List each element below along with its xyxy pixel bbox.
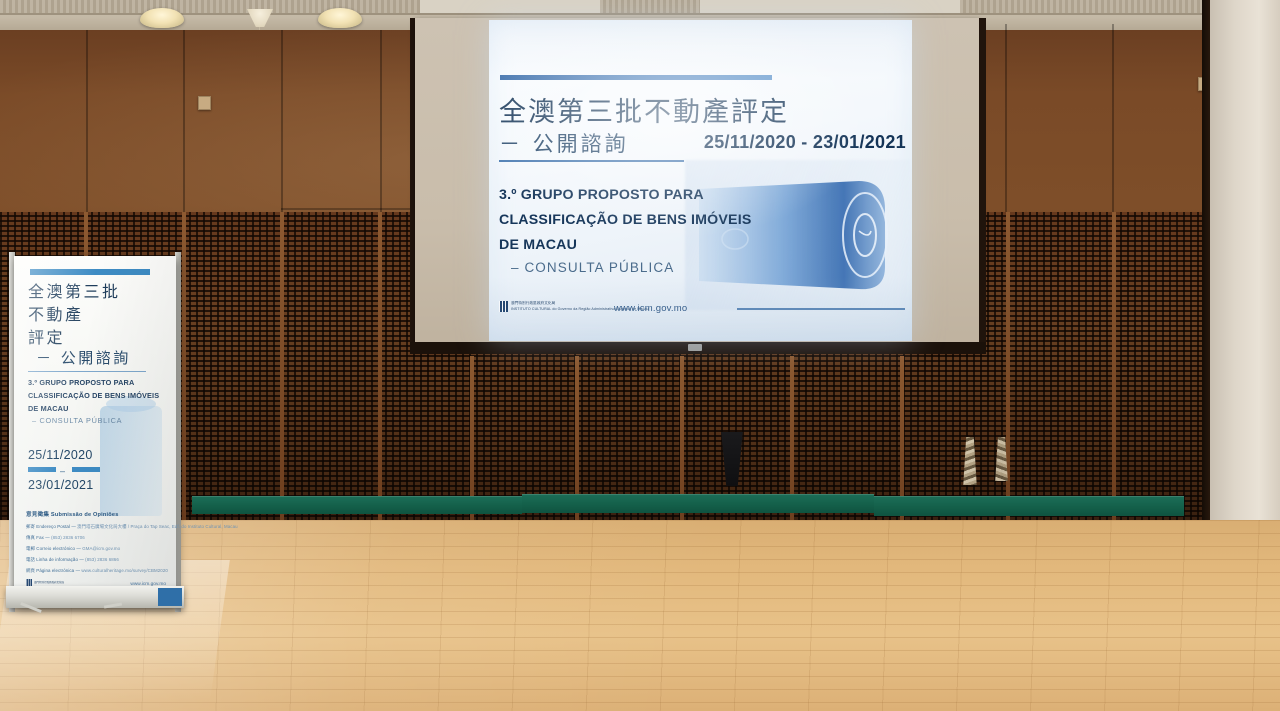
- screen-panel-edge: [979, 18, 986, 348]
- acoustic-panel-divider: [1112, 212, 1116, 542]
- banner-mid-rule: [28, 371, 146, 372]
- slide-title-chinese: 全澳第三批不動產評定: [499, 90, 789, 129]
- icm-logo-mark: [26, 579, 32, 586]
- acoustic-panel-divider: [470, 356, 474, 542]
- ceiling-panel: [700, 0, 960, 13]
- banner-title-line-2: 不動產: [28, 301, 84, 325]
- banner-title-line-1: 全澳第三批: [28, 278, 121, 302]
- banner-date-end: 23/01/2021: [28, 478, 94, 492]
- ceiling-downlight: [140, 8, 184, 28]
- contact-value: 澳門塔石廣場文化局大樓 / Praça do Tap Seac, Edf. do…: [77, 524, 238, 529]
- contact-label: 傳真 Fax: [26, 535, 44, 540]
- wall-panel-seam: [86, 30, 88, 220]
- banner-contact-row: 電郵 Correio electrónico — GMA@icm.gov.mo: [26, 546, 120, 552]
- banner-date-bar-right: [72, 467, 100, 472]
- contact-value: (853) 2836 6866: [85, 557, 119, 562]
- slide-mid-rule: [499, 160, 684, 162]
- acoustic-panel-divider: [280, 212, 284, 542]
- banner-top-rule: [30, 269, 150, 275]
- banner-contact-heading: 意見徵集 Submissão de Opiniões: [26, 510, 119, 518]
- banner-base-accent: [158, 588, 182, 606]
- ceiling-seam: [0, 13, 1280, 15]
- wall-pillar: [1210, 0, 1280, 540]
- press-conference-photo: 全澳第三批不動產評定 － 公開諮詢 25/11/2020 - 23/01/202…: [0, 0, 1280, 711]
- banner-icm-logo: 澳門特別行政區政府文化局: [26, 579, 64, 586]
- slide-pt-line-2: CLASSIFICAÇÃO DE BENS IMÓVEIS: [499, 212, 752, 228]
- banner-pt-line-1: 3.º GRUPO PROPOSTO PARA: [28, 378, 134, 387]
- wall-panel-seam: [183, 30, 185, 220]
- slide-top-rule: [500, 75, 772, 80]
- ceiling-panel: [420, 0, 600, 13]
- wall-panel-seam: [281, 30, 283, 220]
- rollup-banner: 全澳第三批 不動產 評定 － 公開諮詢 3.º GRUPO PROPOSTO P…: [14, 256, 176, 606]
- wall-panel-seam: [380, 30, 382, 220]
- slide-cylinder-graphic: [689, 175, 899, 295]
- wall-panel-seam: [1005, 24, 1007, 222]
- banner-date-bar-left: [28, 467, 56, 472]
- slide-pt-line-4: – CONSULTA PÚBLICA: [511, 260, 674, 275]
- slide-date-range: 25/11/2020 - 23/01/2021: [704, 132, 906, 153]
- contact-value: GMA@icm.gov.mo: [82, 546, 120, 551]
- banner-pt-line-2: CLASSIFICAÇÃO DE BENS IMÓVEIS: [28, 391, 159, 400]
- slide-subtitle-chinese: － 公開諮詢: [499, 128, 629, 158]
- contact-label: 網頁 Página electrónica: [26, 568, 74, 573]
- contact-label: 郵寄 Endereço Postal: [26, 524, 70, 529]
- screen-centre-bracket: [688, 344, 702, 351]
- acoustic-panel-divider: [680, 356, 684, 542]
- acoustic-panel-divider: [575, 356, 579, 542]
- slide-url: www.icm.gov.mo: [614, 303, 687, 314]
- ceiling-downlight: [318, 8, 362, 28]
- wall-panel-seam: [281, 208, 421, 210]
- acoustic-panel-divider: [182, 212, 186, 542]
- wall-outlet: [198, 96, 211, 110]
- banner-date-separator: –: [60, 466, 65, 476]
- presentation-slide: 全澳第三批不動產評定 － 公開諮詢 25/11/2020 - 23/01/202…: [489, 20, 912, 341]
- banner-contact-row: 傳真 Fax — (853) 2836 6706: [26, 535, 85, 541]
- acoustic-panel-divider: [378, 212, 382, 542]
- banner-title-line-3: 評定: [28, 324, 65, 348]
- acoustic-panel-divider: [1006, 212, 1010, 542]
- floor-gloss: [0, 520, 1280, 711]
- slide-footer-rule: [737, 308, 905, 310]
- ceiling-grille: [0, 0, 1280, 14]
- banner-pt-line-3: DE MACAU: [28, 404, 69, 413]
- conference-table-right-top: [874, 496, 1184, 516]
- slide-pt-line-3: DE MACAU: [499, 237, 577, 253]
- banner-date-start: 25/11/2020: [28, 448, 93, 462]
- contact-label: 電話 Linha de informação: [26, 557, 78, 562]
- icm-logo-chinese: 澳門特別行政區政府文化局: [34, 581, 64, 585]
- contact-label: 電郵 Correio electrónico: [26, 546, 75, 551]
- acoustic-panel-divider: [790, 356, 794, 542]
- conference-table-centre-top: [522, 494, 874, 513]
- conference-table-left-top: [192, 496, 522, 514]
- icm-logo-mark: [499, 301, 508, 312]
- banner-title-line-4: － 公開諮詢: [36, 347, 131, 368]
- contact-value: (853) 2836 6706: [51, 535, 85, 540]
- contact-value: www.culturalheritage.mo/survey/CBM2020: [81, 568, 168, 573]
- banner-contact-row: 網頁 Página electrónica — www.culturalheri…: [26, 568, 168, 574]
- banner-contact-row: 郵寄 Endereço Postal — 澳門塔石廣場文化局大樓 / Praça…: [26, 524, 238, 530]
- banner-contact-row: 電話 Linha de informação — (853) 2836 6866: [26, 557, 119, 563]
- banner-pt-line-4: – CONSULTA PÚBLICA: [32, 416, 122, 425]
- slide-pt-line-1: 3.º GRUPO PROPOSTO PARA: [499, 187, 704, 203]
- wall-panel-seam: [1112, 24, 1114, 222]
